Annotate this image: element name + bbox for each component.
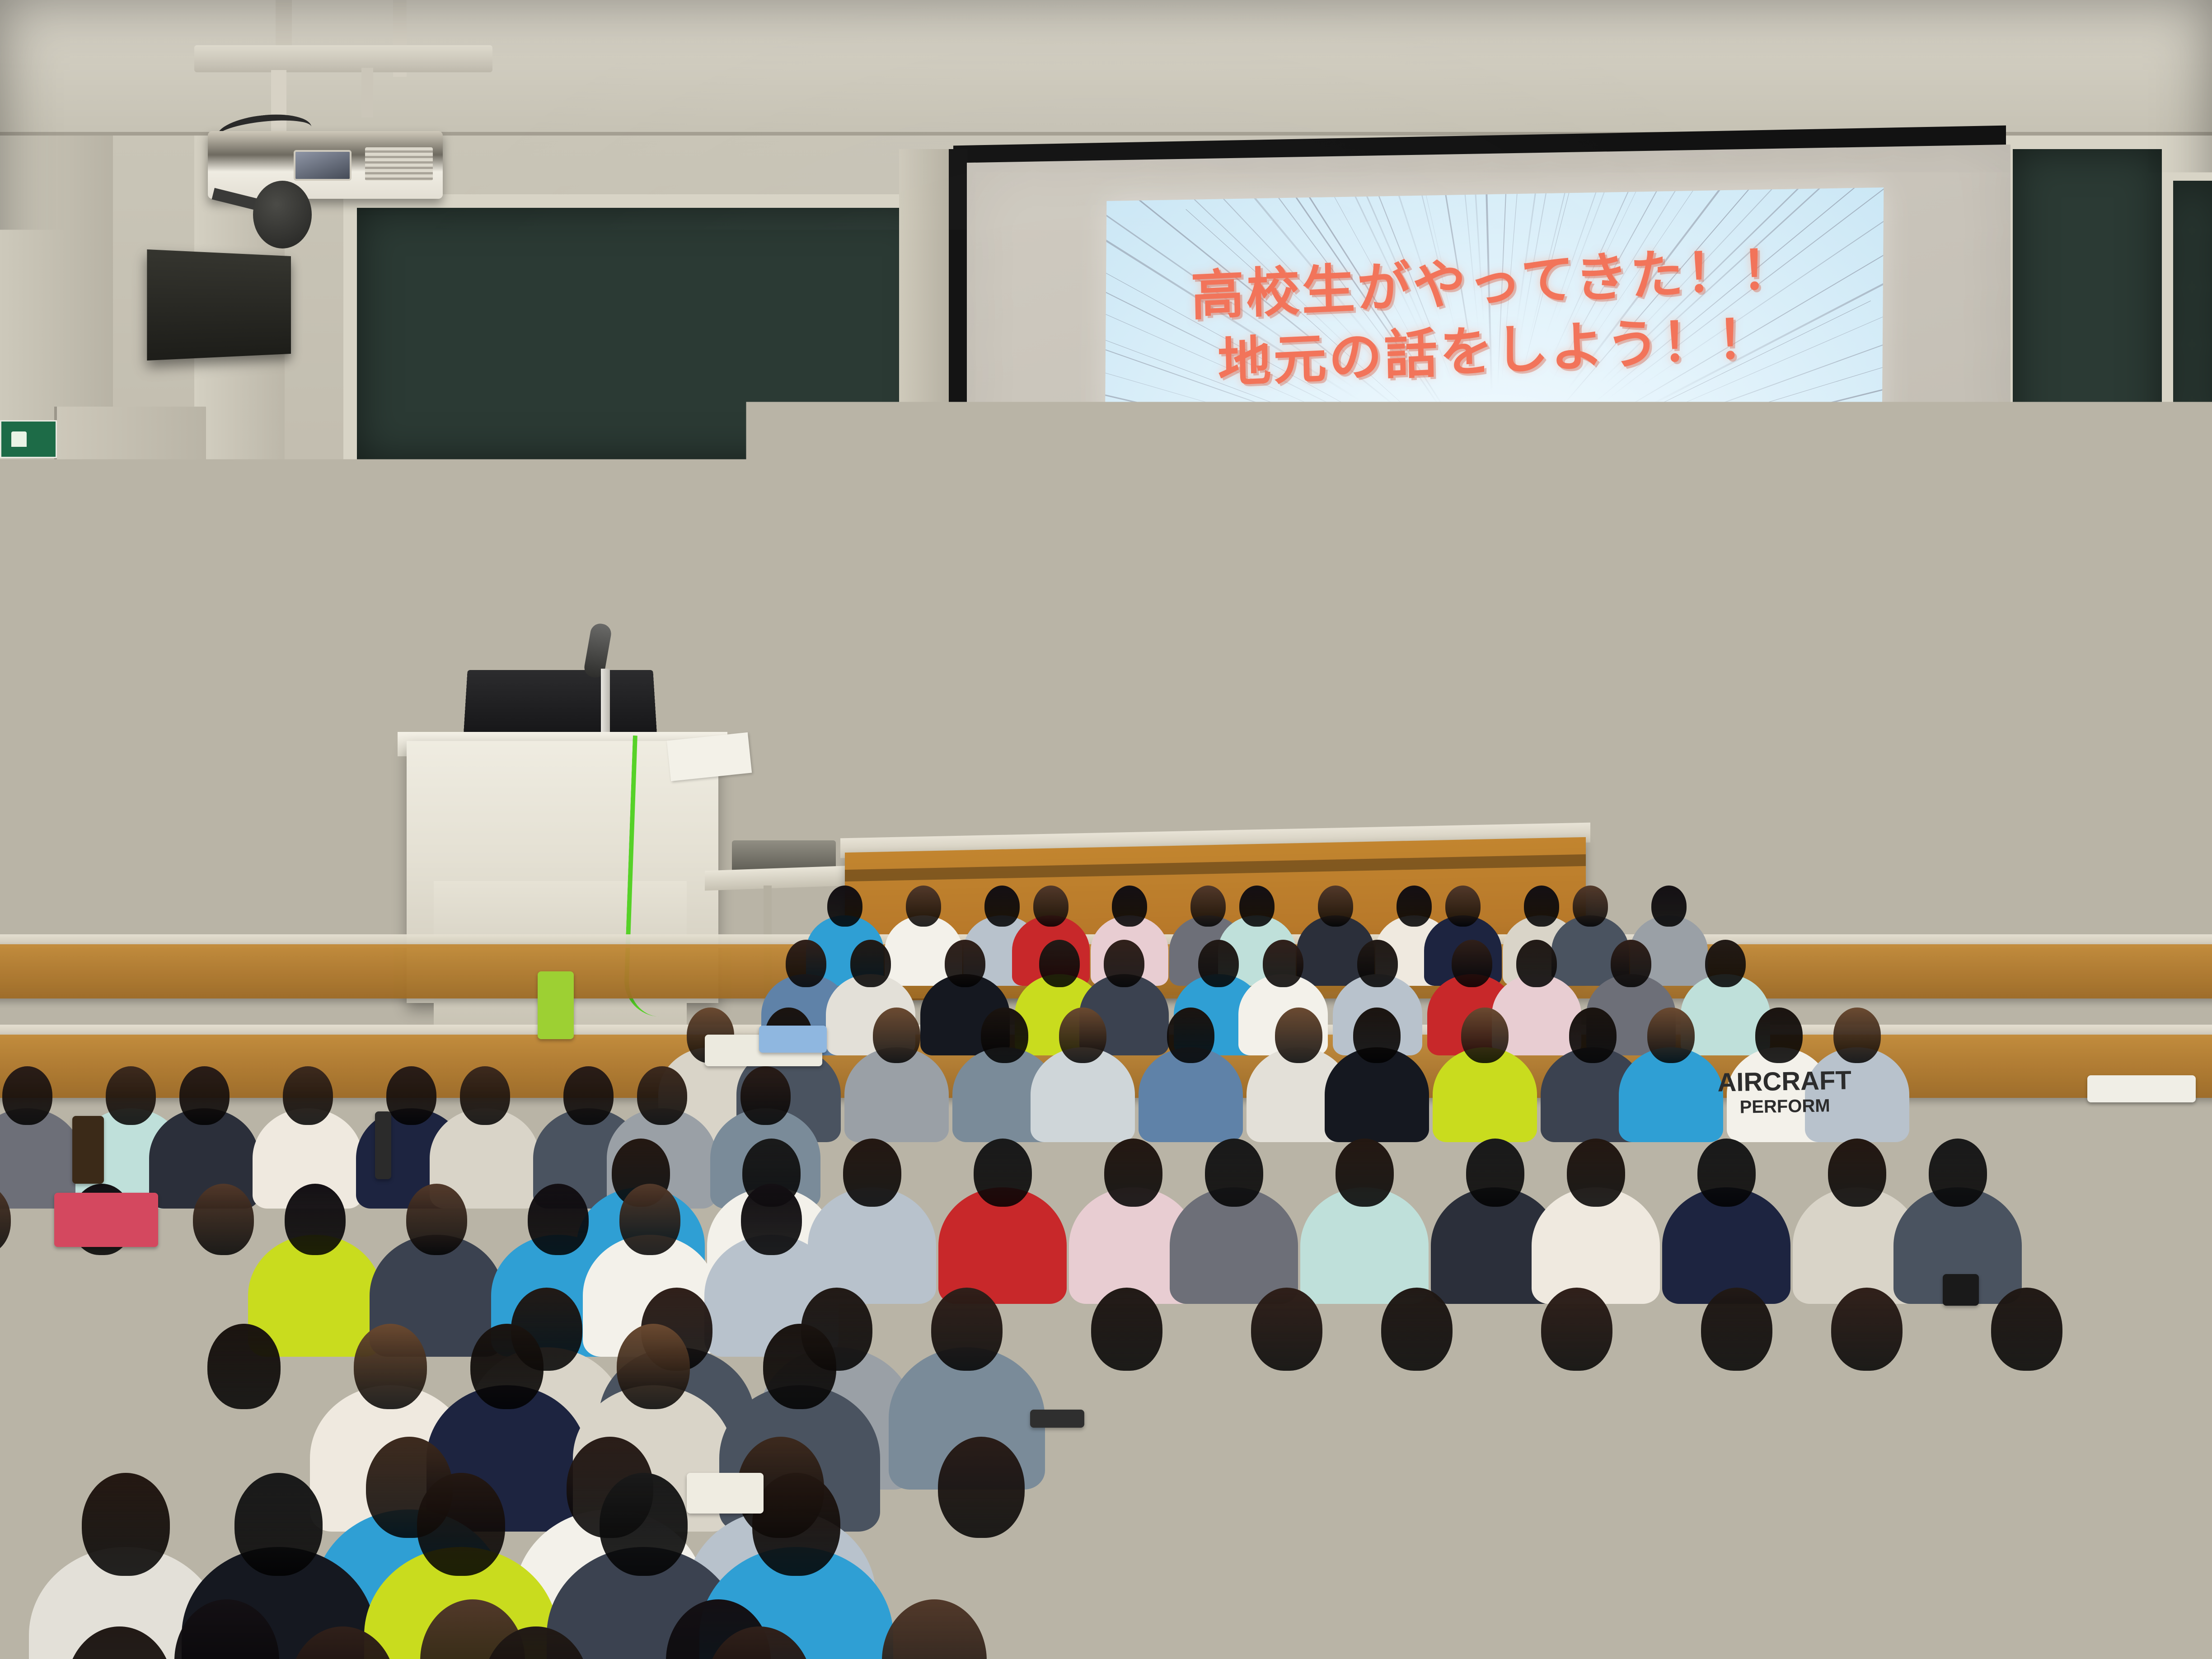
audience-member-head — [1445, 886, 1481, 927]
presenter-name-4: たはら なるみ — [1672, 662, 1828, 692]
presenter-name-2: にし かいせい — [1319, 668, 1476, 698]
audience-member-head — [1309, 1437, 1396, 1538]
wall-pillar-mid — [899, 149, 953, 917]
minecraft-alex-icon — [1745, 446, 1832, 640]
audience-member-head — [740, 1066, 791, 1125]
audience-member-head — [1567, 1139, 1625, 1207]
audience-member-head — [1381, 1288, 1453, 1371]
audience-member-head — [1167, 1008, 1214, 1063]
smartphone[interactable] — [1943, 1274, 1979, 1306]
audience-member-head — [1104, 1139, 1162, 1207]
audience-member-head — [600, 1473, 688, 1576]
projection-screen-side-bar — [949, 149, 968, 872]
audience-member-head — [61, 1324, 134, 1409]
handout-paper-2[interactable] — [759, 1026, 827, 1053]
audience-member-head — [1452, 940, 1492, 987]
audience-member-head — [1466, 1139, 1524, 1207]
audience-member-head — [1651, 886, 1687, 927]
audience-member-head — [1251, 1288, 1322, 1371]
presenter-name-1: かとう りく — [1155, 671, 1287, 701]
audience-member-head — [931, 1288, 1003, 1371]
projector-mount-plate — [194, 45, 492, 72]
audience-member-head — [1033, 886, 1069, 927]
audience-member-head — [1831, 1288, 1903, 1371]
audience-member-head — [82, 1473, 170, 1576]
audience-member-head — [417, 1473, 505, 1576]
audience-member-head — [1109, 1437, 1195, 1538]
audience-member-head — [786, 940, 826, 987]
audience-member-head — [850, 940, 891, 987]
ceiling-speaker — [147, 249, 291, 361]
chalkboard-right-edge — [2173, 181, 2212, 886]
presenter-2-tie — [329, 628, 354, 782]
audience-member-head — [1569, 1008, 1617, 1063]
audience-member-head — [1705, 940, 1746, 987]
presenter-name-3: みき ひなこ — [1508, 665, 1640, 694]
slide-character-row — [1103, 468, 1882, 675]
audience-member-head — [1039, 940, 1080, 987]
audience-member-head — [1190, 886, 1226, 927]
handout-paper-3[interactable] — [2087, 1075, 2196, 1102]
pen[interactable] — [375, 1111, 391, 1179]
audience-member-head — [563, 1066, 614, 1125]
pen-2[interactable] — [1030, 1410, 1084, 1428]
slide-title: 高校生がやってきた！！ 地元の話をしよう！！ — [1104, 231, 1884, 403]
audience-member-head — [460, 1066, 510, 1125]
audience-member-head — [1929, 1139, 1987, 1207]
audience-member-head — [1701, 1288, 1772, 1371]
audience-member-head — [1828, 1139, 1886, 1207]
audience-member-head — [637, 1066, 687, 1125]
audience-member-head — [1275, 1008, 1322, 1063]
chalkboard-right-upper — [2013, 149, 2162, 664]
audience-member-head — [2, 1066, 52, 1125]
presenter-1-hand — [103, 705, 153, 764]
audience-member-head — [906, 886, 941, 927]
audience-member-head — [843, 1139, 901, 1207]
audience-member-head — [1573, 886, 1608, 927]
presenter-2-wristwatch — [353, 827, 379, 852]
face-brown-hair-icon — [1646, 473, 1724, 558]
projected-slide: 高校生がやってきた！！ 地元の話をしよう！！ — [1103, 187, 1884, 761]
audience-member-head — [1991, 1288, 2062, 1371]
audience-member-head — [873, 1008, 920, 1063]
audience-member-head — [1263, 940, 1303, 987]
audience-member-head — [470, 1324, 544, 1409]
audience-member-head — [1239, 886, 1275, 927]
audience-member-head — [752, 1473, 840, 1576]
audience-member-head — [1510, 1437, 1597, 1538]
audience-member-head — [1318, 886, 1353, 927]
presenter-1-hand-right — [185, 764, 239, 831]
audience-member-head — [1353, 1008, 1401, 1063]
audience-member-head — [741, 1184, 802, 1255]
minecraft-steve-icon — [1121, 461, 1209, 655]
audience-member-head — [285, 1184, 346, 1255]
green-tumbler[interactable] — [538, 971, 574, 1039]
audience-member-head — [1881, 1437, 1968, 1538]
audience-member-head — [1541, 1288, 1612, 1371]
audience-member-head — [763, 1324, 836, 1409]
presenter-2-papers — [317, 848, 375, 919]
face-red-hair-icon — [1420, 472, 1498, 561]
presenter-1-name-tag — [193, 695, 225, 707]
audience-member-head — [193, 1184, 254, 1255]
slide-title-line1: 高校生がやってきた！！ — [1104, 231, 1883, 334]
audience-member-head — [1647, 1008, 1695, 1063]
audience-member-head — [1611, 940, 1651, 987]
audience-member-head — [106, 1066, 156, 1125]
audience-member-head — [1357, 940, 1398, 987]
audience-member-head — [234, 1473, 323, 1576]
chalkboard-left-upper — [357, 208, 931, 461]
presenter-2-name-tag — [376, 705, 408, 717]
audience-member-head — [981, 1008, 1028, 1063]
notebook[interactable] — [687, 1473, 764, 1514]
projector-vent — [365, 147, 433, 181]
audience-member-head — [1205, 1139, 1263, 1207]
audience-member-head — [354, 1324, 427, 1409]
audience-member-head — [938, 1437, 1025, 1538]
chalk-rail-left — [357, 462, 931, 469]
audience-member-head — [207, 1324, 281, 1409]
audience-member-head — [945, 940, 985, 987]
exit-sign-icon — [0, 420, 57, 458]
drink-bottle[interactable] — [72, 1116, 104, 1184]
audience-member-head — [179, 1066, 230, 1125]
pink-pouch[interactable] — [54, 1193, 158, 1247]
audience-member-head — [1697, 1139, 1756, 1207]
audience-member-head — [386, 1066, 436, 1125]
lecture-hall-photo: 高校生がやってきた！！ 地元の話をしよう！！ — [0, 0, 2212, 1659]
audience-member-head — [1198, 940, 1239, 987]
audience-member-head — [1091, 1288, 1162, 1371]
audience-member-head — [1681, 1437, 1767, 1538]
projector-arm-secondary — [361, 68, 373, 117]
audience-member-head — [619, 1184, 680, 1255]
audience-member-head — [1104, 940, 1144, 987]
audience-member-head — [1524, 886, 1559, 927]
audience-member-head — [1833, 1008, 1881, 1063]
audience-member-head — [974, 1139, 1032, 1207]
speaker-mount-disc — [253, 181, 312, 248]
audience-member-head — [528, 1184, 589, 1255]
face-green-hair-icon — [1308, 476, 1385, 562]
audience-member-head — [827, 886, 862, 927]
ceiling-projector — [208, 131, 443, 199]
podium-laptop[interactable] — [463, 670, 657, 741]
presenter-1 — [50, 511, 239, 962]
audience-member-head — [1112, 886, 1147, 927]
projector-lens-icon — [294, 150, 351, 181]
chalkboard-right-lower — [2013, 673, 2162, 890]
audience-member-head — [984, 886, 1020, 927]
audience-member-head — [406, 1184, 467, 1255]
audience-member-head — [1461, 1008, 1509, 1063]
audience-member-head — [1516, 940, 1557, 987]
audience-member-head — [617, 1324, 690, 1409]
audience-member-head — [1336, 1139, 1394, 1207]
audience-member-head — [1397, 886, 1432, 927]
audience-member-head — [1755, 1008, 1803, 1063]
audience-member-head — [1059, 1008, 1106, 1063]
audience-member-head — [283, 1066, 333, 1125]
